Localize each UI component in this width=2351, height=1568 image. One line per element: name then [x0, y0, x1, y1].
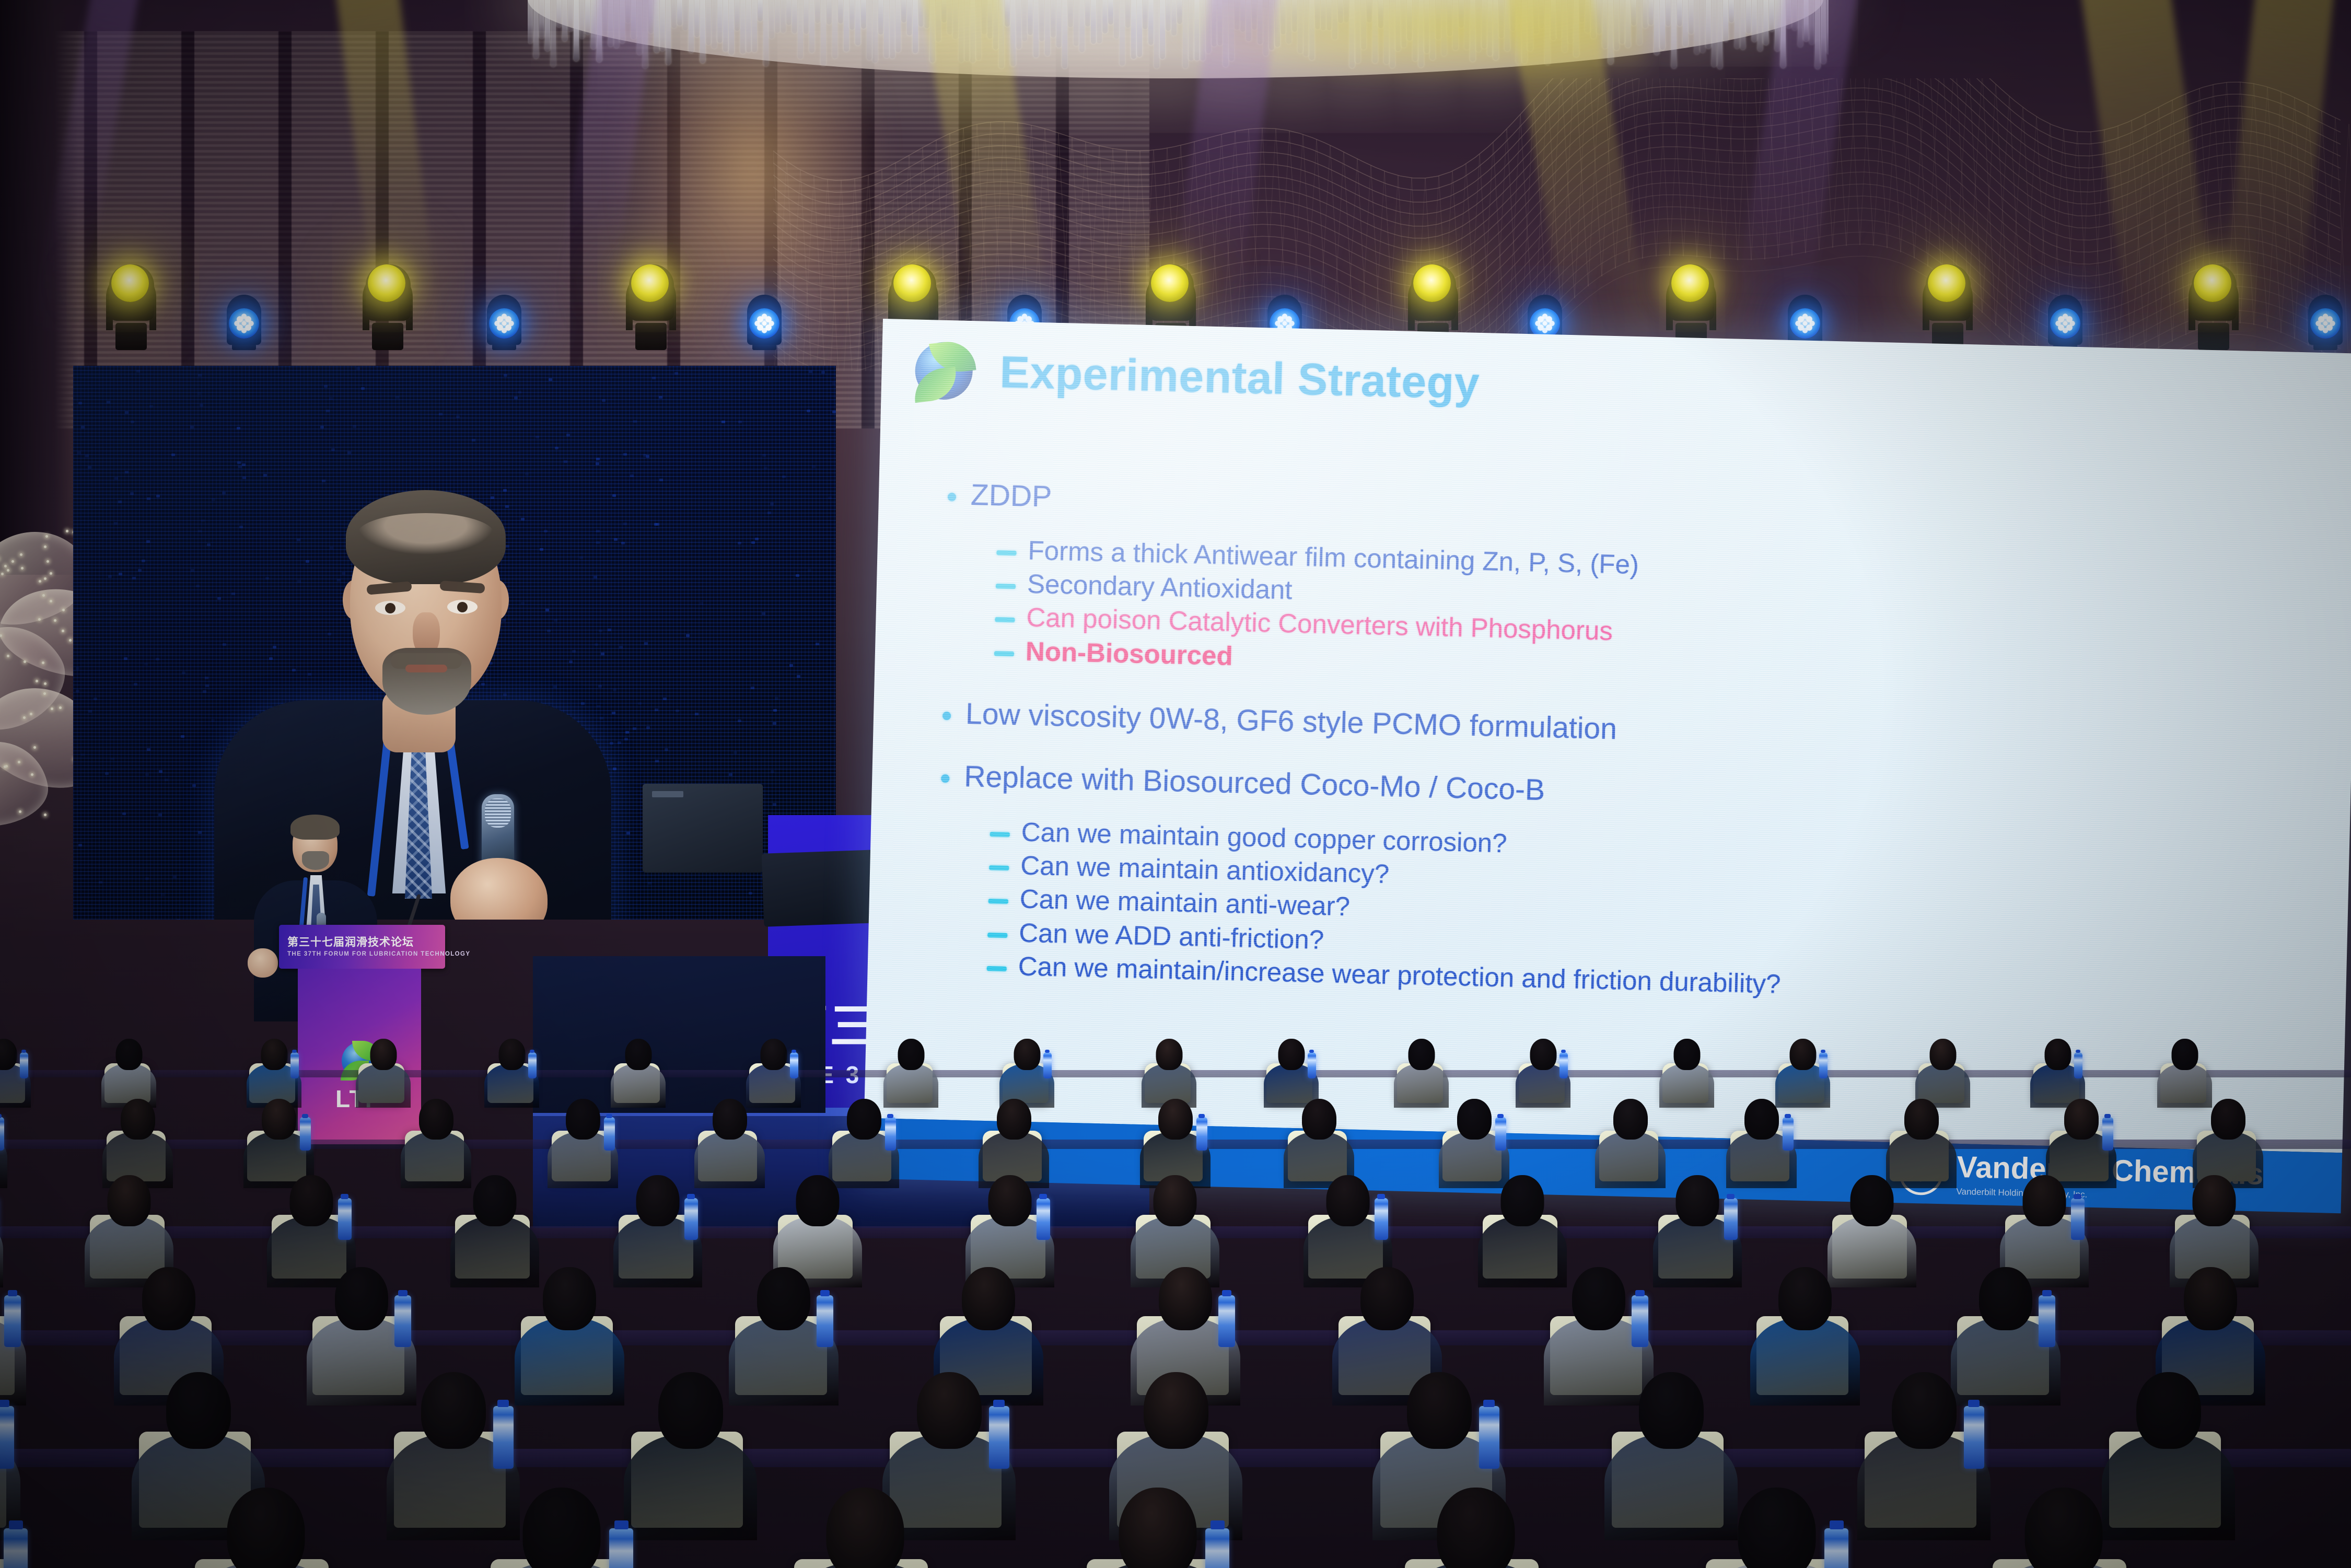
- bottle-cap: [1497, 1114, 1504, 1118]
- water-bottle: [20, 1052, 28, 1078]
- blue-lamp-icon: [749, 308, 779, 339]
- water-bottle: [1724, 1198, 1738, 1240]
- audience-torso: [515, 1318, 624, 1406]
- audience-head: [1457, 1099, 1492, 1140]
- audience-member: [785, 1484, 945, 1568]
- audience-head: [760, 1039, 787, 1070]
- water-bottle: [1205, 1528, 1229, 1568]
- water-bottle: [885, 1117, 896, 1151]
- audience-head: [1156, 1039, 1182, 1070]
- audience-torso: [1659, 1064, 1714, 1108]
- water-bottle: [1308, 1052, 1316, 1078]
- led-par-can: [2046, 282, 2085, 350]
- conference-hall-photo: 第三 THE 3 第三十七届润滑技术论坛 THE 37TH FORUM FOR …: [0, 0, 2351, 1568]
- lectern-chinese-title: 第三十七届润滑技术论坛: [287, 934, 414, 949]
- sculpture-sparkle: [44, 545, 46, 548]
- logo-leaf-bottom: [912, 367, 959, 403]
- sculpture-sparkle: [1, 573, 4, 575]
- bottle-cap: [1635, 1290, 1645, 1296]
- audience-head: [1744, 1099, 1779, 1140]
- led-video-wall: [73, 366, 836, 920]
- audience-head: [1979, 1267, 2032, 1330]
- sub-bullet-text: Can we ADD anti-friction?: [1019, 916, 1324, 956]
- audience-head: [658, 1372, 723, 1449]
- audience-head: [997, 1099, 1031, 1140]
- audience-head: [1501, 1175, 1544, 1226]
- bottle-cap: [1968, 1400, 1980, 1407]
- bottle-cap: [0, 1114, 2, 1118]
- yellow-lamp-icon: [1928, 264, 1965, 302]
- water-bottle: [609, 1528, 633, 1568]
- audience-head: [1360, 1267, 1414, 1330]
- audience-head: [115, 1039, 142, 1070]
- sculpture-sparkle: [42, 594, 45, 597]
- bullet-dash-icon: [990, 832, 1010, 837]
- water-bottle: [1479, 1406, 1499, 1469]
- audience-head: [1154, 1175, 1197, 1226]
- water-bottle: [394, 1295, 411, 1347]
- sculpture-sparkle: [50, 572, 52, 575]
- sculpture-sparkle: [54, 619, 56, 622]
- bottle-cap: [993, 1400, 1005, 1407]
- audience-head: [1929, 1039, 1956, 1070]
- sculpture-sparkle: [69, 639, 72, 642]
- bottle-cap: [2074, 1194, 2081, 1199]
- bullet-dash-icon: [994, 651, 1014, 656]
- bullet-dash-icon: [989, 865, 1009, 870]
- audience-head: [108, 1175, 151, 1226]
- sculpture-sparkle: [36, 680, 38, 682]
- audience-head: [2023, 1175, 2066, 1226]
- sculpture-sparkle: [44, 682, 46, 685]
- audience-head: [962, 1267, 1015, 1330]
- water-bottle: [2102, 1117, 2113, 1151]
- bottle-cap: [1211, 1520, 1225, 1529]
- audience-head: [898, 1039, 924, 1070]
- bottle-cap: [21, 1050, 26, 1053]
- water-bottle: [0, 1117, 4, 1151]
- sculpture-sparkle: [20, 553, 22, 556]
- audience-head: [636, 1175, 680, 1226]
- stage-monitor-on-screen: [643, 784, 763, 873]
- audience-head: [1789, 1039, 1816, 1070]
- sculpture-sparkle: [30, 713, 32, 715]
- water-bottle: [300, 1117, 311, 1151]
- audience-member: [1984, 1484, 2143, 1568]
- water-bottle: [1964, 1406, 1984, 1469]
- audience-head: [166, 1372, 231, 1449]
- bottle-cap: [1045, 1050, 1050, 1053]
- bottle-cap: [497, 1400, 509, 1407]
- blue-lamp-icon: [1790, 308, 1820, 339]
- audience-head: [1144, 1372, 1208, 1449]
- sculpture-sparkle: [44, 814, 46, 816]
- audience-head: [1408, 1039, 1435, 1070]
- presenter-beard: [302, 851, 329, 870]
- bottle-cap: [792, 1050, 796, 1053]
- audience-head: [1437, 1488, 1515, 1568]
- bottle-cap: [1785, 1114, 1791, 1118]
- audience-head: [543, 1267, 596, 1330]
- audience-head: [2184, 1267, 2237, 1330]
- slide-header: Experimental Strategy: [914, 341, 1480, 412]
- blue-lamp-icon: [489, 308, 519, 339]
- audience-head: [2024, 1488, 2102, 1568]
- sculpture-sparkle: [4, 565, 7, 567]
- audience-head: [1738, 1488, 1815, 1568]
- sub-bullet-text: Can we maintain anti-wear?: [1019, 883, 1350, 923]
- audience-seating: [0, 1035, 2351, 1568]
- audience-head: [1850, 1175, 1894, 1226]
- audience-head: [261, 1039, 287, 1070]
- audience-head: [473, 1175, 517, 1226]
- water-bottle: [790, 1052, 798, 1078]
- sculpture-sparkle: [66, 530, 68, 532]
- audience-member: [694, 1097, 765, 1188]
- yellow-lamp-icon: [1671, 264, 1709, 302]
- sculpture-sparkle: [21, 567, 24, 570]
- audience-head: [1639, 1372, 1704, 1449]
- audience-member: [1659, 1037, 1714, 1108]
- audience-member: [611, 1037, 666, 1108]
- bullet-dash-icon: [987, 933, 1007, 938]
- bottle-cap: [9, 1520, 23, 1529]
- sculpture-sparkle: [39, 580, 41, 583]
- slide-title: Experimental Strategy: [999, 346, 1480, 410]
- yellow-lamp-icon: [631, 264, 669, 302]
- audience-head: [142, 1267, 195, 1330]
- sculpture-sparkle: [19, 810, 21, 813]
- moving-head-spotlight: [357, 251, 418, 350]
- water-bottle: [1037, 1198, 1050, 1240]
- sculpture-sparkle: [62, 630, 64, 632]
- speaker-hair: [346, 490, 506, 584]
- bottle-cap: [1377, 1194, 1385, 1199]
- sculpture-sparkle: [33, 746, 36, 749]
- sculpture-sparkle: [42, 661, 44, 664]
- water-bottle: [817, 1295, 833, 1347]
- audience-head: [1892, 1372, 1957, 1449]
- bottle-cap: [398, 1290, 408, 1296]
- bullet-text: ZDDP: [970, 478, 1052, 514]
- audience-head: [290, 1175, 333, 1226]
- bottle-cap: [687, 1194, 695, 1199]
- speaker-eye-left: [375, 601, 405, 615]
- sculpture-sparkle: [31, 773, 33, 776]
- moving-head-spotlight: [101, 251, 161, 350]
- audience-torso: [1750, 1318, 1860, 1406]
- bottle-cap: [1198, 1114, 1205, 1118]
- bottle-cap: [1309, 1050, 1314, 1053]
- yellow-lamp-icon: [111, 264, 149, 302]
- audience-head: [1407, 1372, 1472, 1449]
- yellow-lamp-icon: [893, 264, 931, 302]
- audience-head: [566, 1099, 600, 1140]
- audience-head: [2211, 1099, 2245, 1140]
- audience-head: [988, 1175, 1032, 1226]
- moving-head-spotlight: [621, 251, 681, 350]
- bottle-cap: [8, 1290, 17, 1296]
- sculpture-sparkle: [38, 618, 41, 621]
- audience-member: [186, 1484, 345, 1568]
- audience-head: [1904, 1099, 1939, 1140]
- bottle-cap: [0, 1400, 9, 1407]
- audience-head: [1676, 1175, 1719, 1226]
- water-bottle: [338, 1198, 352, 1240]
- sub-bullet-text: Secondary Antioxidant: [1027, 568, 1293, 606]
- bottle-cap: [1830, 1520, 1844, 1529]
- water-bottle: [2039, 1295, 2055, 1347]
- audience-head: [498, 1039, 525, 1070]
- audience-head: [121, 1099, 155, 1140]
- audience-head: [1302, 1099, 1336, 1140]
- sub-bullet-text: Non-Biosourced: [1025, 635, 1233, 672]
- sculpture-sparkle: [50, 600, 52, 602]
- audience-head: [1278, 1039, 1305, 1070]
- audience-head: [2193, 1175, 2236, 1226]
- bullet-dot-icon: [948, 493, 956, 501]
- water-bottle: [4, 1295, 21, 1347]
- audience-head: [421, 1372, 486, 1449]
- audience-head: [2044, 1039, 2071, 1070]
- audience-head: [625, 1039, 651, 1070]
- speaker-eye-right: [447, 600, 478, 614]
- audience-head: [713, 1099, 747, 1140]
- audience-head: [1159, 1267, 1212, 1330]
- bottle-cap: [2042, 1290, 2052, 1296]
- audience-head: [1326, 1175, 1370, 1226]
- bottle-cap: [887, 1114, 893, 1118]
- blue-lamp-icon: [2050, 308, 2080, 339]
- lectern-header-panel: 第三十七届润滑技术论坛 THE 37TH FORUM FOR LUBRICATI…: [279, 925, 445, 969]
- audience-head: [1014, 1039, 1040, 1070]
- audience-head: [1673, 1039, 1700, 1070]
- audience-head: [1778, 1267, 1832, 1330]
- speaker-mouth: [405, 665, 447, 672]
- blue-lamp-icon: [229, 308, 259, 339]
- water-bottle: [1196, 1117, 1207, 1151]
- audience-torso: [694, 1132, 765, 1188]
- water-bottle: [1783, 1117, 1794, 1151]
- audience-head: [335, 1267, 388, 1330]
- water-bottle: [493, 1406, 514, 1469]
- water-bottle: [1559, 1052, 1568, 1078]
- audience-torso: [624, 1434, 757, 1540]
- sculpture-sparkle: [62, 609, 65, 611]
- bottle-cap: [292, 1050, 297, 1053]
- bottle-cap: [614, 1520, 629, 1529]
- water-bottle: [290, 1052, 299, 1078]
- yellow-lamp-icon: [1413, 264, 1451, 302]
- bullet-dash-icon: [996, 584, 1016, 589]
- audience-head: [1530, 1039, 1556, 1070]
- led-par-can: [225, 282, 263, 350]
- audience-member: [1396, 1484, 1555, 1568]
- audience-head: [847, 1099, 881, 1140]
- sculpture-sparkle: [44, 577, 46, 580]
- water-bottle: [1824, 1528, 1848, 1568]
- audience-head: [826, 1488, 904, 1568]
- sculpture-sparkle: [7, 569, 9, 572]
- water-bottle: [2074, 1052, 2082, 1078]
- water-bottle: [0, 1406, 14, 1469]
- presenter-laptop: [762, 850, 879, 927]
- sculpture-sparkle: [11, 560, 14, 563]
- audience-head: [1613, 1099, 1648, 1140]
- bullet-dash-icon: [996, 550, 1016, 555]
- bullet-dash-icon: [995, 618, 1015, 623]
- audience-head: [2136, 1372, 2201, 1449]
- bullet-dash-icon: [988, 899, 1008, 904]
- audience-member: [1750, 1264, 1860, 1406]
- water-bottle: [2071, 1198, 2085, 1240]
- audience-head: [2064, 1099, 2099, 1140]
- sculpture-sparkle: [45, 535, 48, 538]
- audience-torso: [611, 1064, 666, 1108]
- water-bottle: [528, 1052, 537, 1078]
- audience-head: [796, 1175, 840, 1226]
- yellow-lamp-icon: [368, 264, 405, 302]
- presenter-hair: [290, 815, 340, 840]
- bottle-cap: [2104, 1114, 2111, 1118]
- chandelier-yellow-glow: [1175, 0, 1646, 84]
- blue-lamp-icon: [2310, 308, 2341, 339]
- sculpture-sparkle: [43, 692, 46, 695]
- water-bottle: [1043, 1052, 1052, 1078]
- bullet-dot-icon: [941, 774, 949, 783]
- water-bottle: [1375, 1198, 1388, 1240]
- bullet-dash-icon: [987, 966, 1007, 971]
- bottle-cap: [820, 1290, 830, 1296]
- water-bottle: [684, 1198, 698, 1240]
- audience-member: [515, 1264, 624, 1406]
- slide-bullet-list: ZDDP Forms a thick Antiwear film contain…: [936, 477, 2326, 1014]
- moving-head-spotlight: [1917, 251, 1978, 350]
- presentation-slide: Experimental Strategy ZDDP Forms a thick…: [864, 319, 2351, 1153]
- led-par-can: [2306, 282, 2345, 350]
- sculpture-sparkle: [46, 560, 49, 563]
- sculpture-sparkle: [7, 655, 9, 657]
- moving-head-spotlight: [1661, 251, 1721, 350]
- audience-head: [227, 1488, 305, 1568]
- sculpture-sparkle: [23, 716, 26, 719]
- ltf-globe-icon: [914, 341, 973, 400]
- water-bottle: [604, 1117, 615, 1151]
- bullet-dot-icon: [942, 712, 951, 720]
- bottle-cap: [1727, 1194, 1735, 1199]
- bottle-cap: [1483, 1400, 1495, 1407]
- bottle-cap: [1561, 1050, 1566, 1053]
- audience-head: [917, 1372, 982, 1449]
- bottle-cap: [1821, 1050, 1825, 1053]
- sculpture-sparkle: [24, 660, 26, 663]
- presenter-hand-left: [248, 948, 278, 978]
- audience-head: [262, 1099, 296, 1140]
- audience-head: [2171, 1039, 2198, 1070]
- sculpture-sparkle: [18, 761, 20, 763]
- bottle-cap: [2076, 1050, 2080, 1053]
- audience-head: [419, 1099, 453, 1140]
- water-bottle: [989, 1406, 1009, 1469]
- audience-head: [1158, 1099, 1193, 1140]
- sculpture-sparkle: [51, 707, 53, 710]
- audience-head: [522, 1488, 600, 1568]
- bottle-cap: [530, 1050, 534, 1053]
- lectern-english-title: THE 37TH FORUM FOR LUBRICATION TECHNOLOG…: [287, 951, 470, 957]
- water-bottle: [1495, 1117, 1506, 1151]
- bottle-cap: [1039, 1194, 1047, 1199]
- water-bottle: [1218, 1295, 1235, 1347]
- sculpture-sparkle: [59, 706, 62, 709]
- audience-head: [1119, 1488, 1196, 1568]
- water-bottle: [1632, 1295, 1648, 1347]
- bottle-cap: [302, 1114, 308, 1118]
- yellow-lamp-icon: [2194, 264, 2231, 302]
- bottle-cap: [1222, 1290, 1231, 1296]
- bottle-cap: [606, 1114, 612, 1118]
- water-bottle: [1819, 1052, 1828, 1078]
- yellow-lamp-icon: [1151, 264, 1189, 302]
- led-par-can: [745, 282, 784, 350]
- audience-head: [370, 1039, 397, 1070]
- audience-member: [624, 1369, 757, 1540]
- water-bottle: [4, 1528, 28, 1568]
- audience-head: [757, 1267, 810, 1330]
- led-par-can: [485, 282, 523, 350]
- audience-head: [1572, 1267, 1625, 1330]
- sculpture-sparkle: [4, 765, 6, 768]
- bottle-cap: [341, 1194, 348, 1199]
- moving-head-spotlight: [2183, 251, 2244, 350]
